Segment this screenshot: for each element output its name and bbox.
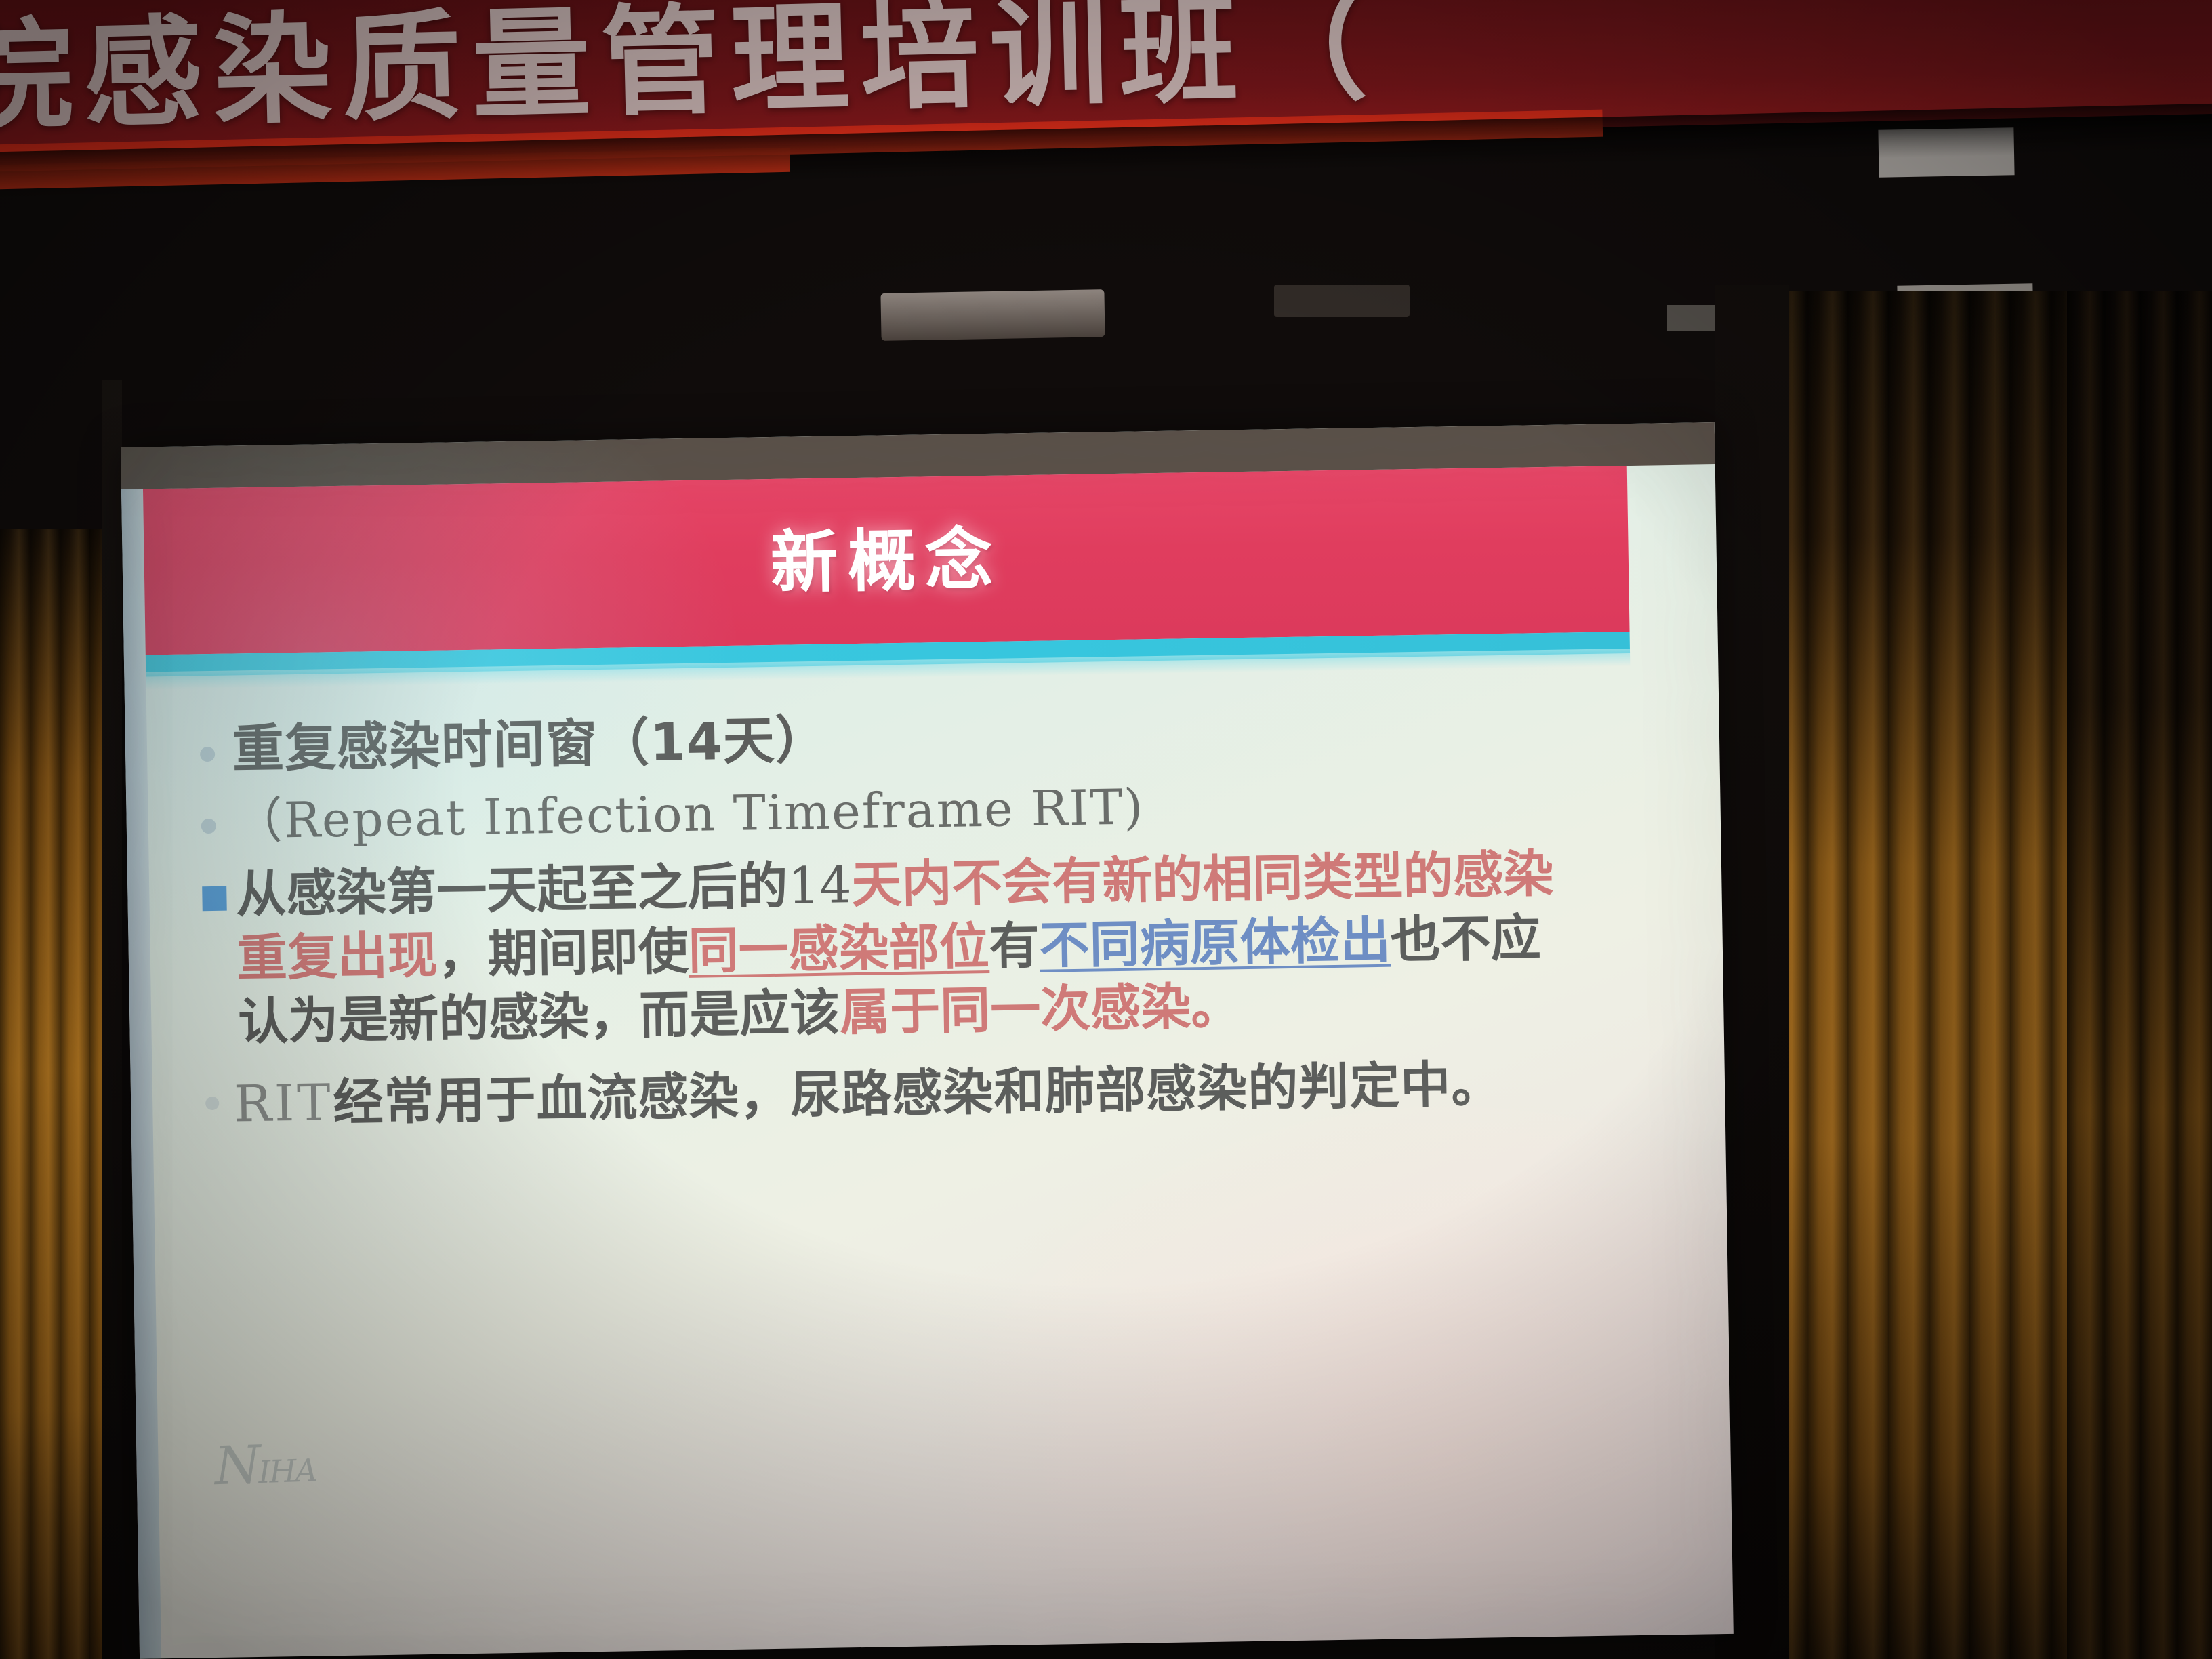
list-item: RIT经常用于血流感染，尿路感染和肺部感染的判定中。 [205, 1049, 1670, 1137]
projection-screen: 新概念 重复感染时间窗（14天） （Repeat Infection Timef… [121, 422, 1734, 1659]
bullet-paragraph-3: RIT经常用于血流感染，尿路感染和肺部感染的判定中。 [233, 1052, 1502, 1136]
bullet-dot-icon [200, 747, 215, 762]
slide-title: 新概念 [770, 504, 1003, 606]
seg-2-3: ，期间即使 [437, 922, 689, 985]
conference-room-scene: 院感染质量管理培训班（ 新概念 重复感染时间窗（14天） （Repeat Inf… [0, 0, 2212, 1659]
seg-2-5: 有 [989, 917, 1040, 976]
list-item: （Repeat Infection Timeframe RIT) [201, 766, 1665, 854]
bullet-dot-icon [201, 819, 216, 834]
seg-2-0: 从感染第一天起至之后的 [236, 857, 788, 924]
stage-pillar-left [102, 380, 122, 1659]
seg-2-1: 14 [787, 856, 853, 915]
seg-3-0: RIT [234, 1073, 334, 1133]
stage-curtain-far-right [2067, 291, 2212, 1659]
bullet-square-icon [202, 886, 227, 912]
ceiling-panel [880, 289, 1105, 341]
list-item: 从感染第一天起至之后的14天内不会有新的相同类型的感染重复出现，期间即使同一感染… [202, 840, 1668, 1054]
slide-logo-watermark: NIHA [213, 1433, 317, 1497]
seg-2-8: 属于同一次感染。 [840, 977, 1242, 1042]
seg-3-1: 经常用于血流感染，尿路感染和肺部感染的判定中。 [333, 1055, 1502, 1132]
bullet-paragraph-2: 从感染第一天起至之后的14天内不会有新的相同类型的感染重复出现，期间即使同一感染… [236, 842, 1587, 1054]
slide-body: 重复感染时间窗（14天） （Repeat Infection Timeframe… [172, 694, 1676, 1530]
wall-sign-small [1667, 305, 1721, 331]
bullet-text-0: 重复感染时间窗（14天） [232, 708, 827, 782]
stage-curtain-left [0, 529, 119, 1659]
logo-suffix: IHA [258, 1452, 316, 1490]
ceiling-panel-secondary [1274, 285, 1410, 317]
bullet-dot-icon [205, 1097, 219, 1110]
slide-title-band: 新概念 [143, 466, 1630, 655]
logo-letter: N [213, 1435, 259, 1497]
seg-2-6: 不同病原体检出 [1039, 912, 1391, 975]
bullet-text-1: （Repeat Infection Timeframe RIT) [233, 774, 1145, 853]
seg-2-4: 同一感染部位 [688, 918, 989, 981]
